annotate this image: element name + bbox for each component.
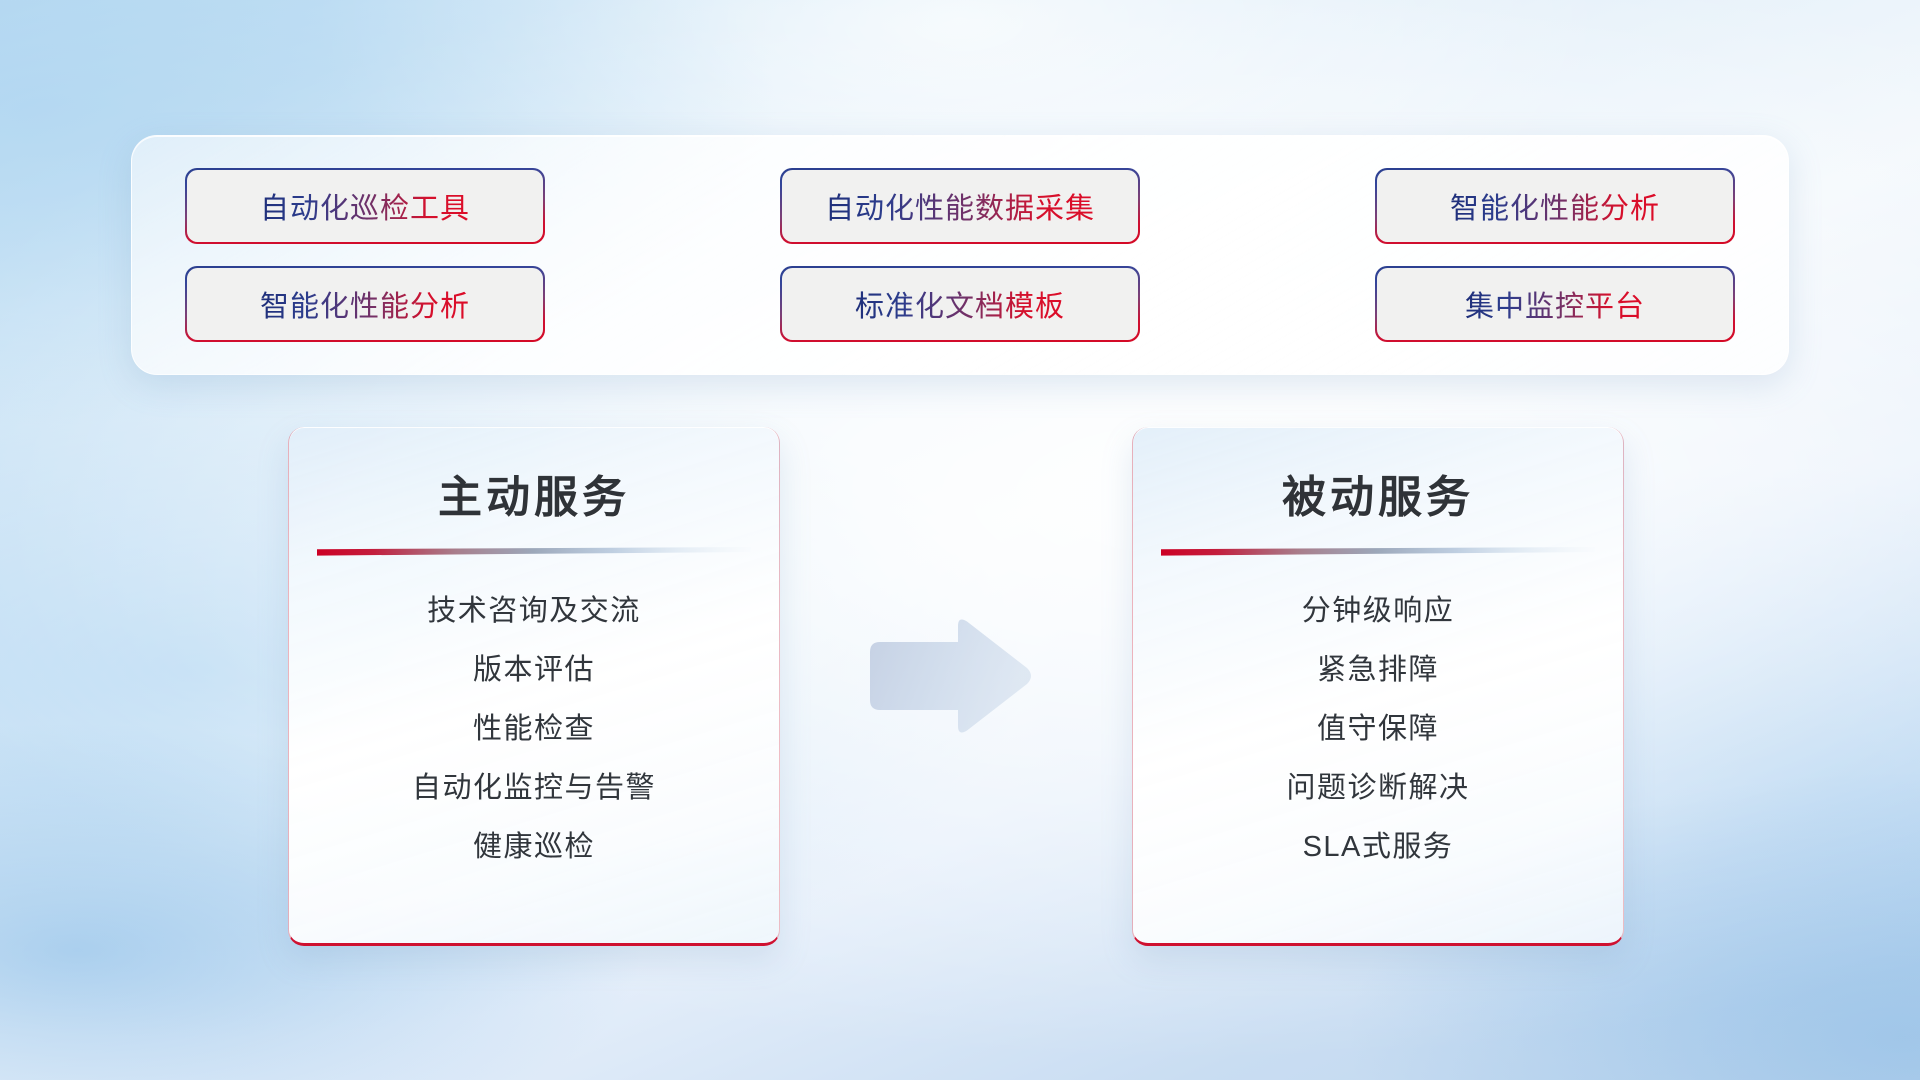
- capability-pill-label: 标准化文档模板: [855, 283, 1065, 325]
- card-item: 问题诊断解决: [1133, 759, 1623, 818]
- capability-pill-label: 自动化性能数据采集: [825, 185, 1095, 227]
- capability-row-2: 智能化性能分析 标准化文档模板 集中监控平台: [187, 268, 1733, 340]
- service-card-reactive: 被动服务 分钟级响应 紧急排障 值守保障 问题诊断解决 SLA式服务: [1132, 427, 1624, 946]
- capability-pill-3[interactable]: 智能化性能分析: [1377, 170, 1733, 242]
- capability-pill-6[interactable]: 集中监控平台: [1377, 268, 1733, 340]
- card-item: 健康巡检: [289, 818, 779, 877]
- capability-pill-2[interactable]: 自动化性能数据采集: [782, 170, 1138, 242]
- capability-pill-4[interactable]: 智能化性能分析: [187, 268, 543, 340]
- capability-pill-label: 智能化性能分析: [260, 283, 470, 325]
- capability-row-1: 自动化巡检工具 自动化性能数据采集 智能化性能分析: [187, 170, 1733, 242]
- card-item-list: 技术咨询及交流 版本评估 性能检查 自动化监控与告警 健康巡检: [289, 582, 779, 877]
- capability-panel: 自动化巡检工具 自动化性能数据采集 智能化性能分析 智能化性能分析 标准化文档模…: [131, 135, 1789, 375]
- flow-arrow-right-icon: [862, 614, 1034, 738]
- card-item: 版本评估: [289, 641, 779, 700]
- card-item: 紧急排障: [1133, 641, 1623, 700]
- card-divider: [317, 547, 751, 556]
- service-card-proactive: 主动服务 技术咨询及交流 版本评估 性能检查 自动化监控与告警 健康巡检: [288, 427, 780, 946]
- card-title: 被动服务: [1133, 461, 1623, 525]
- card-title: 主动服务: [289, 461, 779, 525]
- capability-pill-label: 自动化巡检工具: [260, 185, 470, 227]
- capability-pill-1[interactable]: 自动化巡检工具: [187, 170, 543, 242]
- card-item: 技术咨询及交流: [289, 582, 779, 641]
- card-item: 性能检查: [289, 700, 779, 759]
- card-item: SLA式服务: [1133, 818, 1623, 877]
- card-item-list: 分钟级响应 紧急排障 值守保障 问题诊断解决 SLA式服务: [1133, 582, 1623, 877]
- card-divider: [1161, 547, 1595, 556]
- capability-pill-label: 集中监控平台: [1465, 283, 1645, 325]
- card-item: 分钟级响应: [1133, 582, 1623, 641]
- card-item: 值守保障: [1133, 700, 1623, 759]
- card-item: 自动化监控与告警: [289, 759, 779, 818]
- capability-pill-5[interactable]: 标准化文档模板: [782, 268, 1138, 340]
- capability-pill-label: 智能化性能分析: [1450, 185, 1660, 227]
